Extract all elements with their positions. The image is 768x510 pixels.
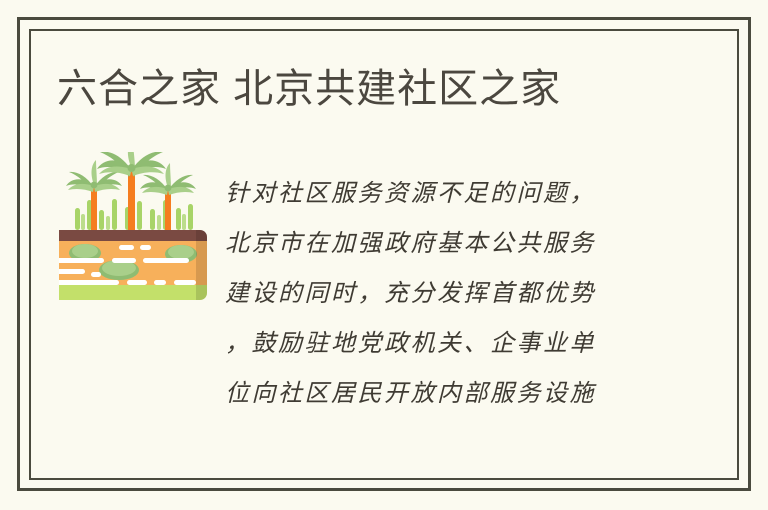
body-line: 位向社区居民开放内部服务设施 — [225, 368, 713, 418]
page-title: 六合之家 北京共建社区之家 — [57, 63, 561, 115]
body-line: 针对社区服务资源不足的问题， — [225, 168, 713, 218]
body-line: ，鼓励驻地党政机关、企事业单 — [225, 318, 713, 368]
oasis-palm-trees-icon — [57, 152, 207, 302]
body-line: 建设的同时，充分发挥首都优势 — [225, 268, 713, 318]
poster-canvas: 六合之家 北京共建社区之家 — [0, 0, 768, 510]
body-paragraph: 针对社区服务资源不足的问题， 北京市在加强政府基本公共服务 建设的同时，充分发挥… — [225, 150, 713, 418]
content-row: 针对社区服务资源不足的问题， 北京市在加强政府基本公共服务 建设的同时，充分发挥… — [57, 150, 713, 418]
body-line: 北京市在加强政府基本公共服务 — [225, 218, 713, 268]
